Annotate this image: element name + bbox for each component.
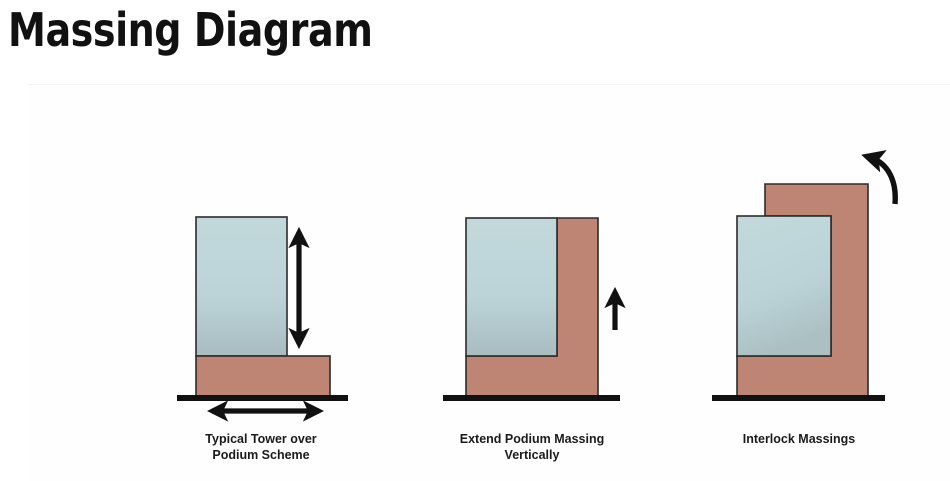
caption-line-1: Interlock Massings — [706, 431, 892, 447]
diagram-typical-tower-podium — [177, 217, 348, 411]
diagram-extend-podium-vertically — [443, 218, 620, 398]
massing-diagrams-svg — [0, 0, 950, 480]
caption-extend-podium-vertically: Extend Podium Massing Vertically — [432, 431, 632, 463]
caption-line-2: Vertically — [432, 447, 632, 463]
podium-mass — [196, 356, 330, 396]
diagram-interlock-massings — [712, 157, 895, 398]
tower-mass — [196, 217, 287, 356]
tower-mass — [466, 218, 557, 356]
caption-typical-tower-podium: Typical Tower over Podium Scheme — [168, 431, 354, 463]
caption-interlock-massings: Interlock Massings — [706, 431, 892, 447]
diagram-canvas: Massing Diagram — [0, 0, 950, 480]
caption-line-1: Extend Podium Massing — [432, 431, 632, 447]
caption-line-1: Typical Tower over — [168, 431, 354, 447]
rotate-curved-arrow — [869, 157, 895, 204]
caption-line-2: Podium Scheme — [168, 447, 354, 463]
tower-mass — [737, 216, 831, 356]
